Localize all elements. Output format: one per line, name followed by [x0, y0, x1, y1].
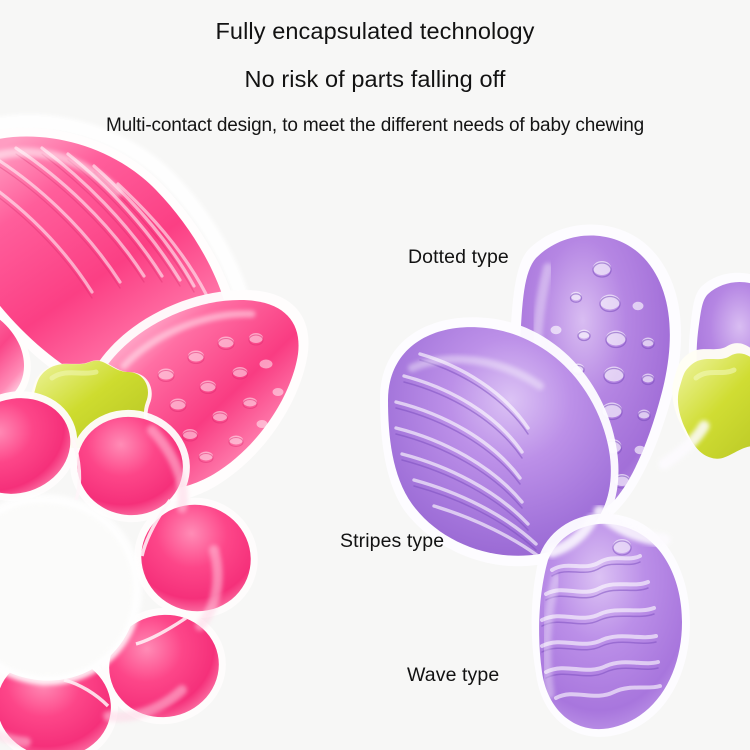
purple-flower-teether	[0, 0, 750, 750]
callout-label-wave-type: Wave type	[407, 666, 499, 686]
purple-yellow-star-center	[672, 343, 750, 459]
callout-label-dotted-type: Dotted type	[408, 248, 509, 268]
product-feature-image: Fully encapsulated technology No risk of…	[0, 0, 750, 750]
callout-label-stripes-type: Stripes type	[340, 532, 444, 552]
